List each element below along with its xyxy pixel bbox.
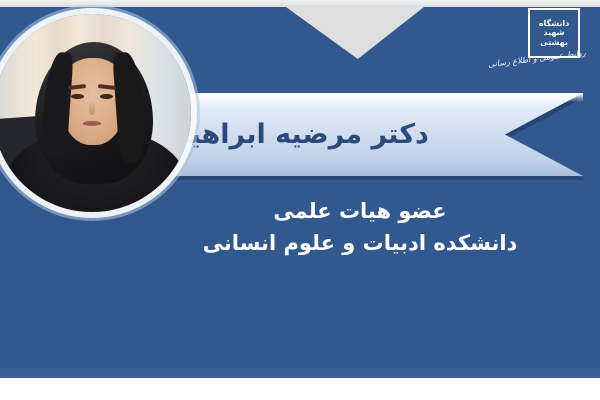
faculty-department-line: دانشکده ادبیات و علوم انسانی — [150, 228, 570, 258]
seal-line-2: شهید — [543, 28, 564, 37]
faculty-role-block: عضو هیات علمی دانشکده ادبیات و علوم انسا… — [150, 196, 570, 259]
faculty-role-line: عضو هیات علمی — [150, 196, 570, 226]
nose-shape — [89, 101, 95, 115]
university-logo: دانشگاه شهید بهشتی روابط عمومی و اطلاع ر… — [490, 6, 586, 88]
portrait-photo — [0, 14, 191, 212]
seal-line-3: بهشتی — [540, 38, 568, 47]
faculty-portrait-avatar — [0, 14, 191, 212]
mouth-shape — [83, 121, 101, 126]
seal-line-1: دانشگاه — [539, 19, 569, 28]
bottom-white-band — [0, 378, 600, 400]
faculty-profile-poster: دکتر مرضیه ابراهیمی عضو هیات علمی دانشکد… — [0, 0, 600, 400]
